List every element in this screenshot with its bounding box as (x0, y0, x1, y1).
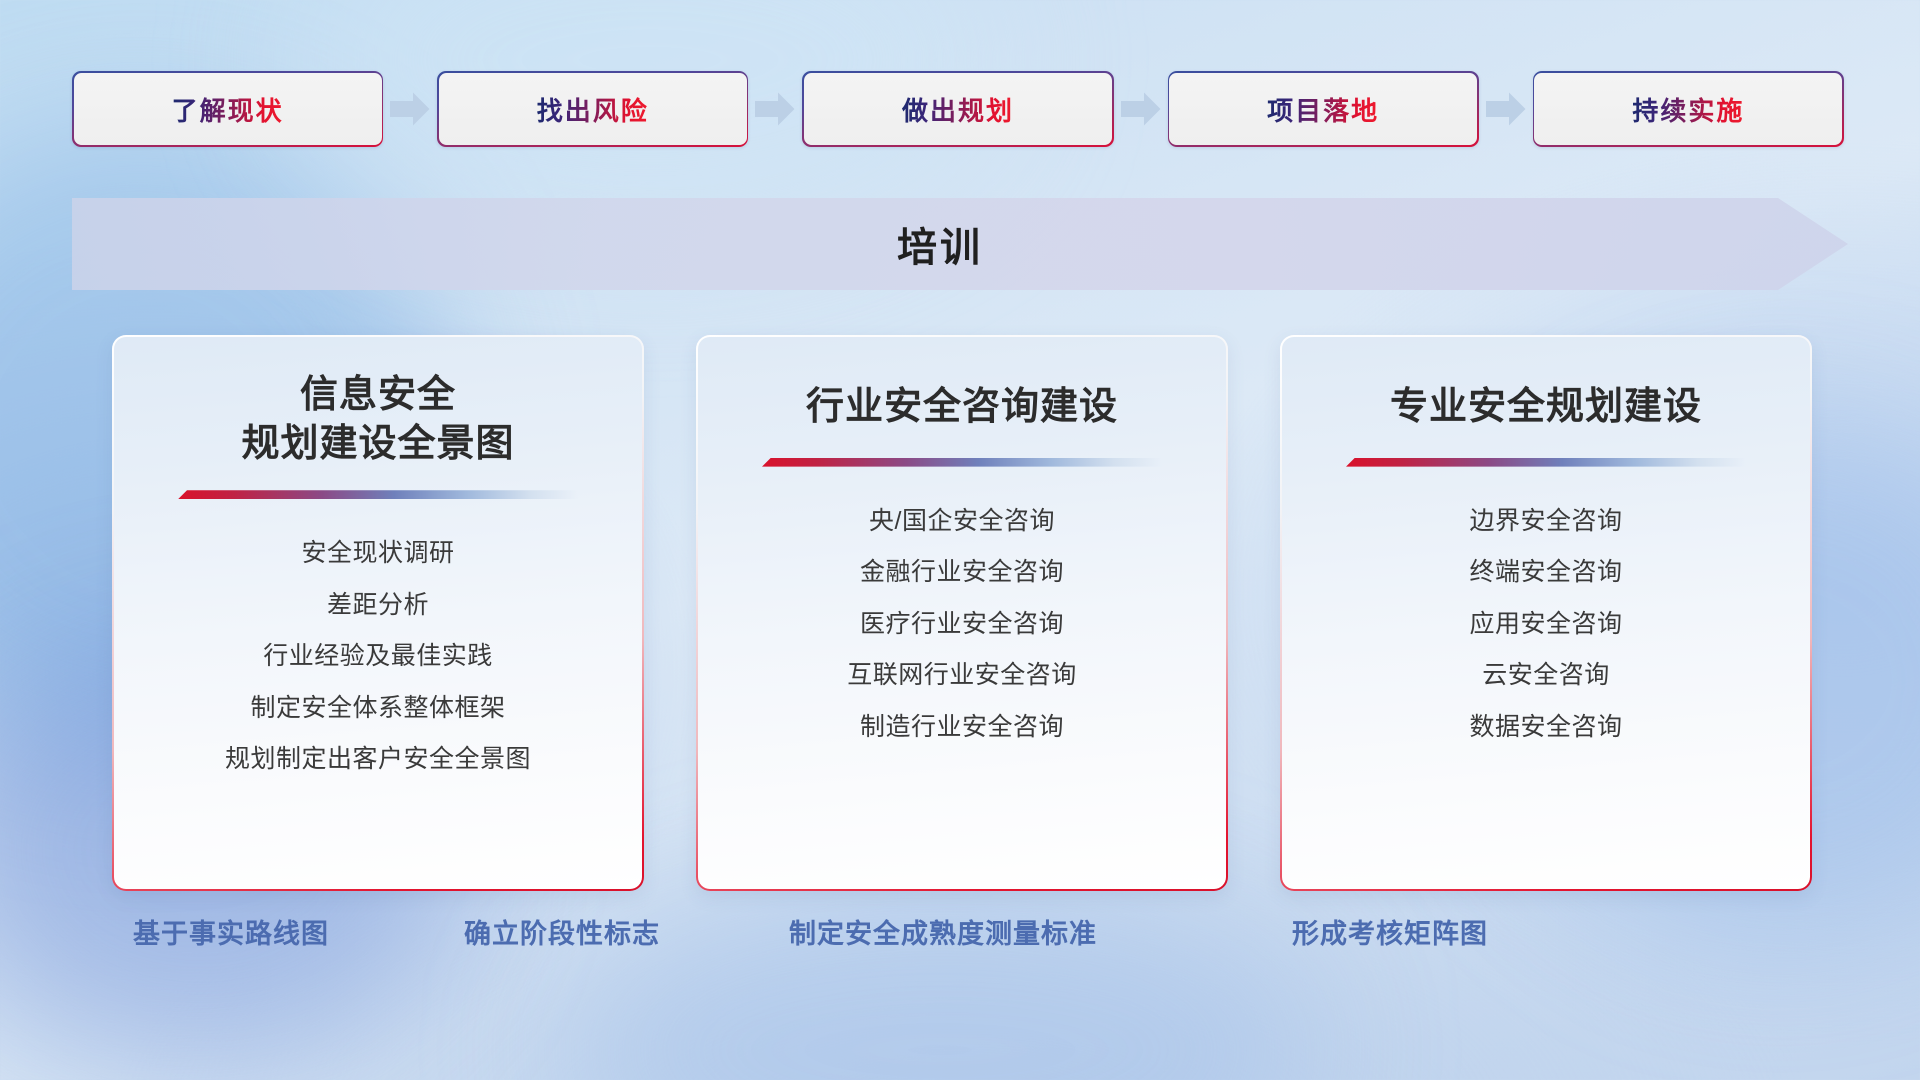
step-box-1[interactable]: 了解现状 (72, 71, 383, 146)
service-card-3[interactable]: 专业安全规划建设 边界安全咨询 终端安全咨询 应用安全咨询 云安全咨询 数据安全… (1280, 335, 1812, 891)
step-box-4-inner: 项目落地 (1169, 73, 1477, 145)
step-label-4: 项目落地 (1267, 91, 1379, 128)
step-box-3-inner: 做出规划 (804, 73, 1112, 145)
list-item: 互联网行业安全咨询 (847, 657, 1077, 695)
process-step-row: 了解现状 找出风险 做出规划 项目落地 (72, 73, 1852, 145)
service-card-2-title: 行业安全咨询建设 (806, 383, 1118, 432)
outcome-caption-row: 基于事实路线图 确立阶段性标志 制定安全成熟度测量标准 形成考核矩阵图 (0, 912, 1920, 960)
list-item: 安全现状调研 (301, 535, 454, 573)
step-box-2-inner: 找出风险 (439, 73, 747, 145)
step-label-2: 找出风险 (537, 91, 649, 128)
list-item: 医疗行业安全咨询 (860, 606, 1064, 644)
service-card-3-title: 专业安全规划建设 (1390, 383, 1702, 432)
step-box-5[interactable]: 持续实施 (1533, 71, 1844, 146)
service-card-1-list: 安全现状调研 差距分析 行业经验及最佳实践 制定安全体系整体框架 规划制定出客户… (114, 535, 642, 779)
service-card-2[interactable]: 行业安全咨询建设 央/国企安全咨询 金融行业安全咨询 医疗行业安全咨询 互联网行… (696, 335, 1228, 891)
service-card-1[interactable]: 信息安全 规划建设全景图 安全现状调研 差距分析 行业经验及最佳实践 制定安全体… (112, 335, 644, 891)
service-card-2-body: 行业安全咨询建设 央/国企安全咨询 金融行业安全咨询 医疗行业安全咨询 互联网行… (698, 337, 1226, 889)
step-arrow-icon-2 (748, 92, 802, 126)
list-item: 规划制定出客户安全全景图 (225, 741, 531, 779)
list-item: 云安全咨询 (1482, 657, 1610, 695)
step-label-5: 持续实施 (1632, 91, 1744, 128)
list-item: 制造行业安全咨询 (860, 709, 1064, 747)
step-box-3[interactable]: 做出规划 (802, 71, 1113, 146)
step-arrow-icon-3 (1114, 92, 1168, 126)
list-item: 央/国企安全咨询 (869, 503, 1055, 541)
service-card-1-body: 信息安全 规划建设全景图 安全现状调研 差距分析 行业经验及最佳实践 制定安全体… (114, 337, 642, 889)
list-item: 行业经验及最佳实践 (263, 638, 493, 676)
service-card-3-list: 边界安全咨询 终端安全咨询 应用安全咨询 云安全咨询 数据安全咨询 (1282, 503, 1810, 747)
list-item: 终端安全咨询 (1469, 554, 1622, 592)
service-card-3-body: 专业安全规划建设 边界安全咨询 终端安全咨询 应用安全咨询 云安全咨询 数据安全… (1282, 337, 1810, 889)
service-card-3-accent-rule (1346, 458, 1746, 467)
step-arrow-icon-4 (1479, 92, 1533, 126)
step-label-3: 做出规划 (902, 91, 1014, 128)
service-card-1-accent-rule (178, 490, 578, 499)
step-arrow-icon-1 (383, 92, 437, 126)
background-glow-bottom (560, 880, 1320, 1080)
step-box-4[interactable]: 项目落地 (1168, 71, 1479, 146)
step-label-1: 了解现状 (172, 91, 284, 128)
list-item: 应用安全咨询 (1469, 606, 1622, 644)
outcome-caption-1: 基于事实路线图 (133, 912, 329, 951)
training-banner: 培训 (72, 198, 1848, 290)
list-item: 制定安全体系整体框架 (250, 690, 505, 728)
training-banner-label: 培训 (72, 198, 1848, 290)
service-card-2-accent-rule (762, 458, 1162, 467)
step-box-5-inner: 持续实施 (1534, 73, 1842, 145)
outcome-caption-4: 形成考核矩阵图 (1292, 912, 1488, 951)
list-item: 数据安全咨询 (1469, 709, 1622, 747)
list-item: 金融行业安全咨询 (860, 554, 1064, 592)
list-item: 边界安全咨询 (1469, 503, 1622, 541)
list-item: 差距分析 (327, 587, 429, 625)
service-card-2-list: 央/国企安全咨询 金融行业安全咨询 医疗行业安全咨询 互联网行业安全咨询 制造行… (698, 503, 1226, 747)
outcome-caption-2: 确立阶段性标志 (464, 912, 660, 951)
outcome-caption-3: 制定安全成熟度测量标准 (789, 912, 1097, 951)
step-box-2[interactable]: 找出风险 (437, 71, 748, 146)
service-card-1-title: 信息安全 规划建设全景图 (241, 371, 514, 468)
step-box-1-inner: 了解现状 (74, 73, 382, 145)
service-card-row: 信息安全 规划建设全景图 安全现状调研 差距分析 行业经验及最佳实践 制定安全体… (112, 335, 1812, 887)
